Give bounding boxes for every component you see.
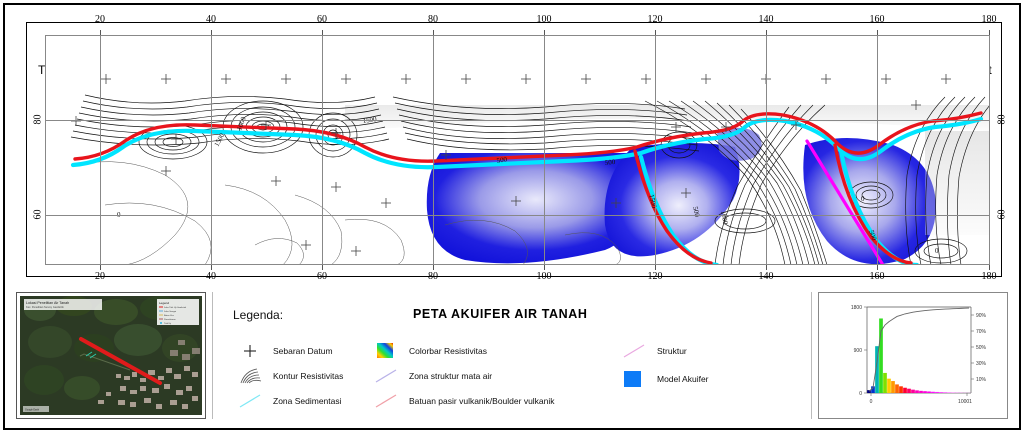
inset-legend-caption: Legend [159,301,169,305]
histogram-bar [919,391,923,393]
legend-item-colorbar-resistivitas[interactable]: Colorbar Resistivitas [371,340,487,362]
svg-text:Kec. Penelitian Survey Geolist: Kec. Penelitian Survey Geolistrik [26,305,64,309]
legend-label-5: Batuan pasir vulkanik/Boulder vulkanik [409,396,555,406]
groundwater-aquifer-map-figure: Timur Barat [0,0,1024,433]
svg-text:0: 0 [935,247,939,255]
hist-y-tick-2: 1800 [851,305,862,311]
histogram-bar [943,392,947,393]
legend-item-sebaran-datum[interactable]: Sebaran Datum [235,340,333,362]
hist-x-tick-1: 10001 [958,399,972,405]
x-tick-top-2: 60 [308,14,336,25]
histogram-bar [911,390,915,393]
x-tick-top-7: 160 [861,14,893,25]
satellite-image-svg: Lokasi Penelitian Air Tanah Kec. Penelit… [20,296,202,415]
legend-item-model-akuifer[interactable]: Model Akuifer [619,368,709,390]
cyan-line-icon [235,390,265,412]
svg-text:1000: 1000 [719,210,729,226]
x-tick-top-3: 80 [419,14,447,25]
svg-text:Batas Kec: Batas Kec [164,314,175,317]
page-title: PETA AKUIFER AIR TANAH [413,307,588,321]
svg-text:500: 500 [604,158,616,167]
legend-label-3: Colorbar Resistivitas [409,346,487,356]
hist-y-tick-0: 0 [859,391,862,397]
svg-text:0: 0 [861,195,865,203]
svg-text:1000: 1000 [235,115,247,131]
histogram-bars [867,318,971,393]
contour-lines-icon [235,365,265,387]
red-line-icon [371,390,401,412]
x-tick-bottom-4: 100 [528,271,560,282]
histogram-bar [907,389,911,393]
svg-text:Pemukiman: Pemukiman [164,319,176,321]
histogram-bar [899,386,903,393]
x-tick-bottom-3: 80 [419,271,447,282]
x-tick-top-6: 140 [750,14,782,25]
histogram-svg: 1800 900 0 90% 70% 50% 30% 10% 0 10001 [829,301,999,411]
x-tick-bottom-0: 20 [86,271,114,282]
x-tick-bottom-2: 60 [308,271,336,282]
hist-y-tick-1: 900 [854,348,863,354]
x-tick-bottom-1: 40 [197,271,225,282]
x-tick-top-8: 180 [973,14,1005,25]
magenta-line-icon [619,340,649,362]
cross-section-svg: 1500 1000 1500 500 500 500 1000 1500 500… [45,35,990,265]
histogram-bar [883,373,887,393]
svg-text:Titik Uji: Titik Uji [164,322,172,325]
svg-text:Jalur Titik Uji Geolistrik: Jalur Titik Uji Geolistrik [164,306,187,309]
legend-item-kontur-resistivitas[interactable]: Kontur Resistivitas [235,365,343,387]
histogram-chart: 1800 900 0 90% 70% 50% 30% 10% 0 10001 [829,301,999,411]
hist-pct-1: 30% [976,361,987,367]
histogram-bar [891,381,895,393]
legend-label-6: Struktur [657,346,687,356]
histogram-bar [947,392,951,393]
histogram-bar [903,388,907,393]
legend-item-batuan-pasir-vulkanik[interactable]: Batuan pasir vulkanik/Boulder vulkanik [371,390,555,412]
satellite-image: Lokasi Penelitian Air Tanah Kec. Penelit… [20,296,202,415]
svg-text:Google Earth: Google Earth [25,409,40,412]
inset-caption-text: Lokasi Penelitian Air Tanah [26,301,69,305]
hist-x-tick-0: 0 [870,399,873,405]
legend-label-0: Sebaran Datum [273,346,333,356]
hist-pct-2: 50% [976,345,987,351]
legend-label-4: Zona struktur mata air [409,371,492,381]
y-tick-right-1: 60 [997,203,1008,227]
cross-datum-icon [235,340,265,362]
x-tick-top-0: 20 [86,14,114,25]
hist-pct-4: 90% [976,313,987,319]
histogram-bar [895,384,899,393]
legend-label-2: Zona Sedimentasi [273,396,342,406]
map-panel: Timur Barat [8,8,1016,286]
y-tick-left-1: 60 [33,203,44,227]
x-tick-bottom-6: 140 [750,271,782,282]
legend-item-struktur[interactable]: Struktur [619,340,687,362]
histogram-bar [931,392,935,393]
histogram-bar [935,392,939,393]
x-tick-bottom-7: 160 [861,271,893,282]
colorbar-icon [371,340,401,362]
legend-item-zona-struktur-mata-air[interactable]: Zona struktur mata air [371,365,492,387]
y-tick-right-0: 80 [997,108,1008,132]
svg-text:Jalur Sungai: Jalur Sungai [164,310,177,313]
histogram-bar [915,390,919,393]
x-tick-top-1: 40 [197,14,225,25]
x-tick-top-5: 120 [639,14,671,25]
legend-heading: Legenda: [233,308,283,322]
violet-line-icon [371,365,401,387]
x-tick-top-4: 100 [528,14,560,25]
hist-pct-0: 10% [976,377,987,383]
x-tick-bottom-5: 120 [639,271,671,282]
histogram-bar [923,391,927,393]
blue-square-icon [619,368,649,390]
legend-label-1: Kontur Resistivitas [273,371,343,381]
resistivity-histogram-panel: 1800 900 0 90% 70% 50% 30% 10% 0 10001 [818,292,1008,419]
y-tick-left-0: 80 [33,108,44,132]
legend-item-zona-sedimentasi[interactable]: Zona Sedimentasi [235,390,342,412]
histogram-bar [927,391,931,393]
x-tick-bottom-8: 180 [973,271,1005,282]
legend-panel: Legenda: PETA AKUIFER AIR TANAH Sebaran … [212,292,812,419]
bottom-panel-row: Lokasi Penelitian Air Tanah Kec. Penelit… [8,290,1016,425]
legend-label-7: Model Akuifer [657,374,709,384]
hist-pct-3: 70% [976,329,987,335]
resistivity-cross-section: 1500 1000 1500 500 500 500 1000 1500 500… [45,35,990,265]
histogram-bar [887,379,891,393]
histogram-bar [939,392,943,393]
location-inset-map[interactable]: Lokasi Penelitian Air Tanah Kec. Penelit… [16,292,206,419]
